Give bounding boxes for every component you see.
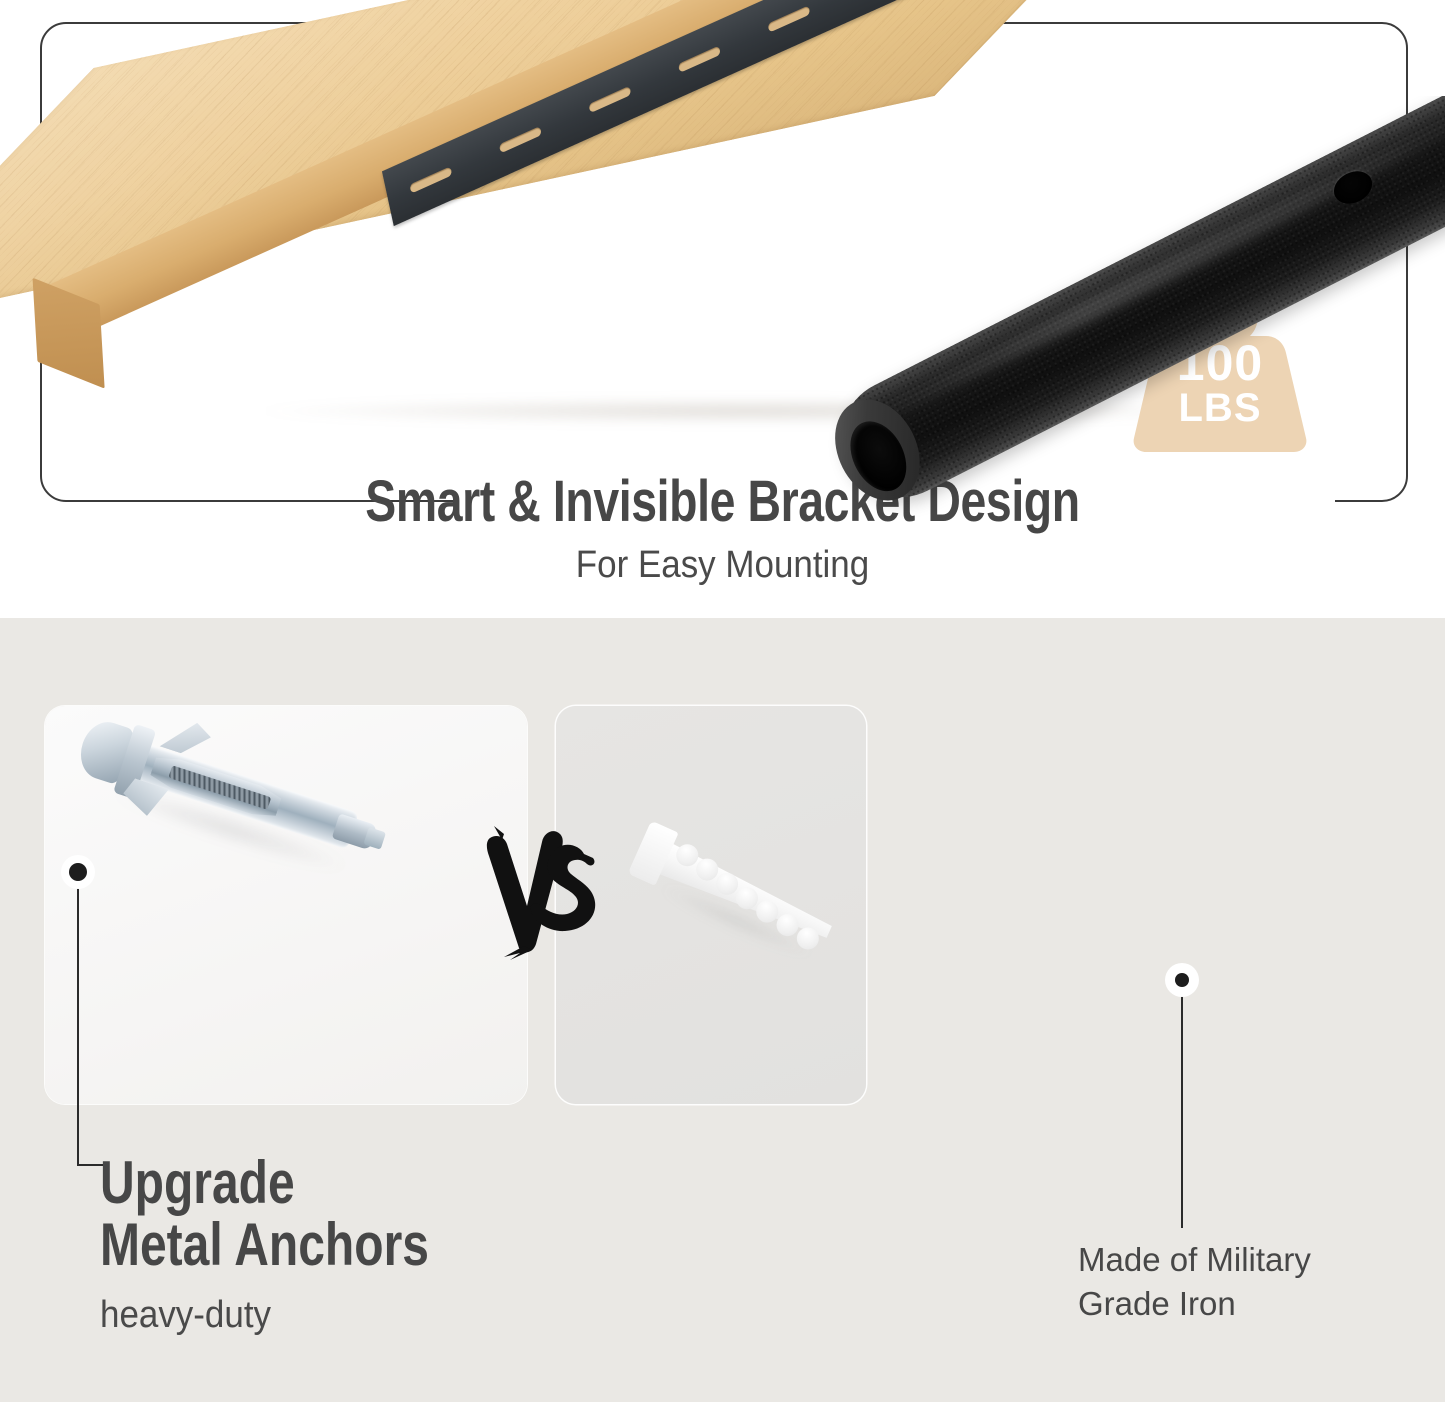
metal-anchor-caption-line1: Upgrade xyxy=(100,1152,596,1214)
versus-mark xyxy=(480,820,600,960)
pipe-caption-line2: Grade Iron xyxy=(1078,1282,1445,1326)
vs-brush-icon xyxy=(480,820,600,960)
pipe-caption-line1: Made of Military xyxy=(1078,1238,1445,1282)
product-feature-graphic: 100 LBS Smart & Invisible Bracket Design… xyxy=(0,0,1445,1402)
pipe-leader-line xyxy=(1181,996,1183,1228)
bracket-slot xyxy=(409,166,452,193)
metal-anchor-subcaption: heavy-duty xyxy=(100,1294,670,1337)
metal-anchor-caption: Upgrade Metal Anchors heavy-duty xyxy=(100,1152,720,1337)
bracket-slot xyxy=(678,45,721,72)
metal-anchor-caption-line2: Metal Anchors xyxy=(100,1214,596,1276)
pipe-callout-ring xyxy=(1165,963,1199,997)
pipe-body xyxy=(828,96,1445,518)
pipe-caption: Made of Military Grade Iron xyxy=(1078,1238,1445,1325)
metal-anchor-leader-line xyxy=(77,888,79,1166)
bracket-slot xyxy=(767,5,810,32)
metal-anchor-leader-elbow xyxy=(77,1164,103,1166)
bracket-slot xyxy=(499,126,542,153)
pipe-bore xyxy=(839,412,917,501)
bracket-slot xyxy=(588,85,631,112)
metal-anchor-callout-dot xyxy=(61,855,95,889)
black-iron-pipe-image xyxy=(828,96,1445,656)
pipe-texture xyxy=(828,96,1445,518)
